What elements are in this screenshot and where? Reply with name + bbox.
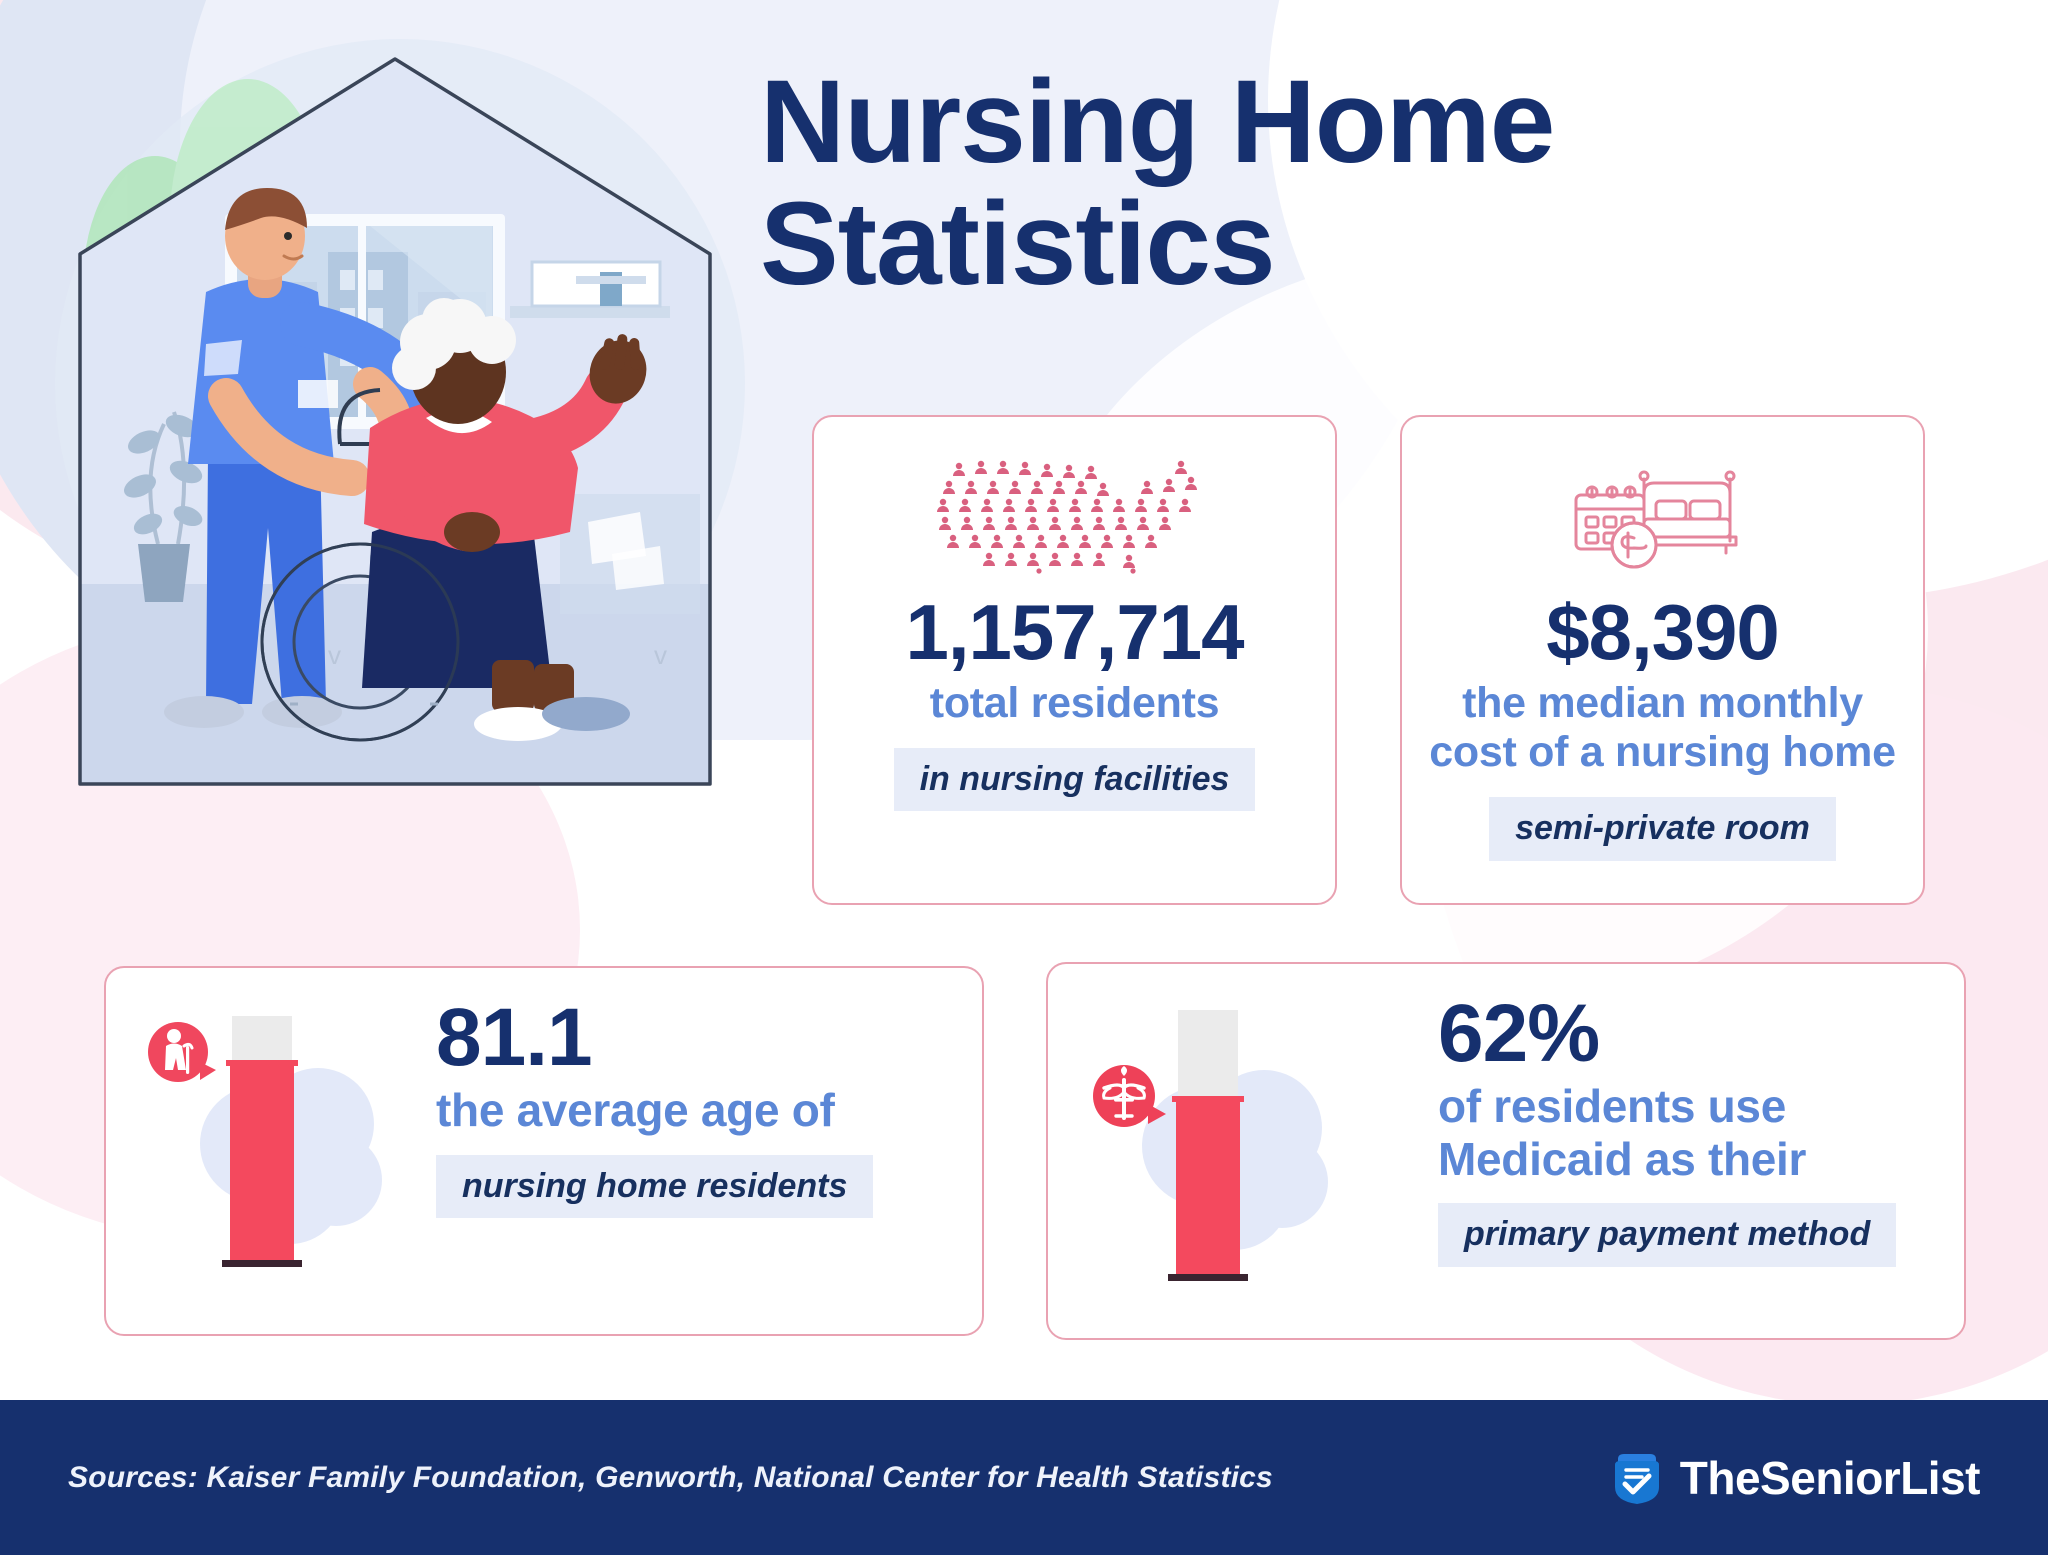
stat-tag: primary payment method <box>1438 1203 1896 1266</box>
stat-tag: in nursing facilities <box>894 748 1256 811</box>
stat-text-block: 62% of residents use Medicaid as their p… <box>1438 992 1940 1267</box>
stat-value: 81.1 <box>436 996 958 1080</box>
stat-cards-container: 1,157,714 total residents in nursing fac… <box>0 0 2048 1555</box>
gauge-fill <box>1176 1100 1240 1278</box>
stat-tag: nursing home residents <box>436 1155 873 1218</box>
brand-logo[interactable]: TheSeniorList <box>1610 1451 1980 1505</box>
stat-label-line-1: the median monthly <box>1424 679 1901 728</box>
stat-label-line-1: of residents use <box>1438 1080 1940 1133</box>
stat-label: of residents use Medicaid as their <box>1438 1080 1940 1186</box>
sources-text: Sources: Kaiser Family Foundation, Genwo… <box>68 1461 1273 1495</box>
stat-label: the median monthly cost of a nursing hom… <box>1424 679 1901 778</box>
gauge-base <box>1168 1274 1248 1281</box>
stat-text-block: 81.1 the average age of nursing home res… <box>436 996 958 1218</box>
stat-text-block: 1,157,714 total residents in nursing fac… <box>814 593 1335 811</box>
gauge-base <box>222 1260 302 1267</box>
stat-value: 1,157,714 <box>836 593 1313 673</box>
checkmark-badge-icon <box>1610 1451 1664 1505</box>
stat-label: the average age of <box>436 1084 958 1137</box>
brand-name: TheSeniorList <box>1680 1451 1980 1505</box>
stat-value: 62% <box>1438 992 1940 1076</box>
stat-card-average-age: 81.1 the average age of nursing home res… <box>104 966 984 1336</box>
stat-card-medicaid-share: 62% of residents use Medicaid as their p… <box>1046 962 1966 1340</box>
stat-label-line-2: cost of a nursing home <box>1424 728 1901 777</box>
gauge-fill <box>230 1064 294 1264</box>
stat-tag: semi-private room <box>1489 797 1836 860</box>
stat-label: total residents <box>836 679 1313 728</box>
stat-label-line-2: Medicaid as their <box>1438 1133 1940 1186</box>
calendar-bed-dollar-icon <box>1402 455 1923 585</box>
stat-text-block: $8,390 the median monthly cost of a nurs… <box>1402 593 1923 861</box>
footer-bar: Sources: Kaiser Family Foundation, Genwo… <box>0 1400 2048 1555</box>
gauge-average-age <box>140 994 440 1314</box>
stat-value: $8,390 <box>1424 593 1901 673</box>
gauge-medicaid-share <box>1082 990 1382 1310</box>
elderly-person-cane-icon <box>148 1022 216 1082</box>
stat-card-median-cost: $8,390 the median monthly cost of a nurs… <box>1400 415 1925 905</box>
caduceus-medical-icon <box>1093 1065 1166 1127</box>
stat-card-total-residents: 1,157,714 total residents in nursing fac… <box>812 415 1337 905</box>
us-map-people-icon <box>814 455 1335 585</box>
